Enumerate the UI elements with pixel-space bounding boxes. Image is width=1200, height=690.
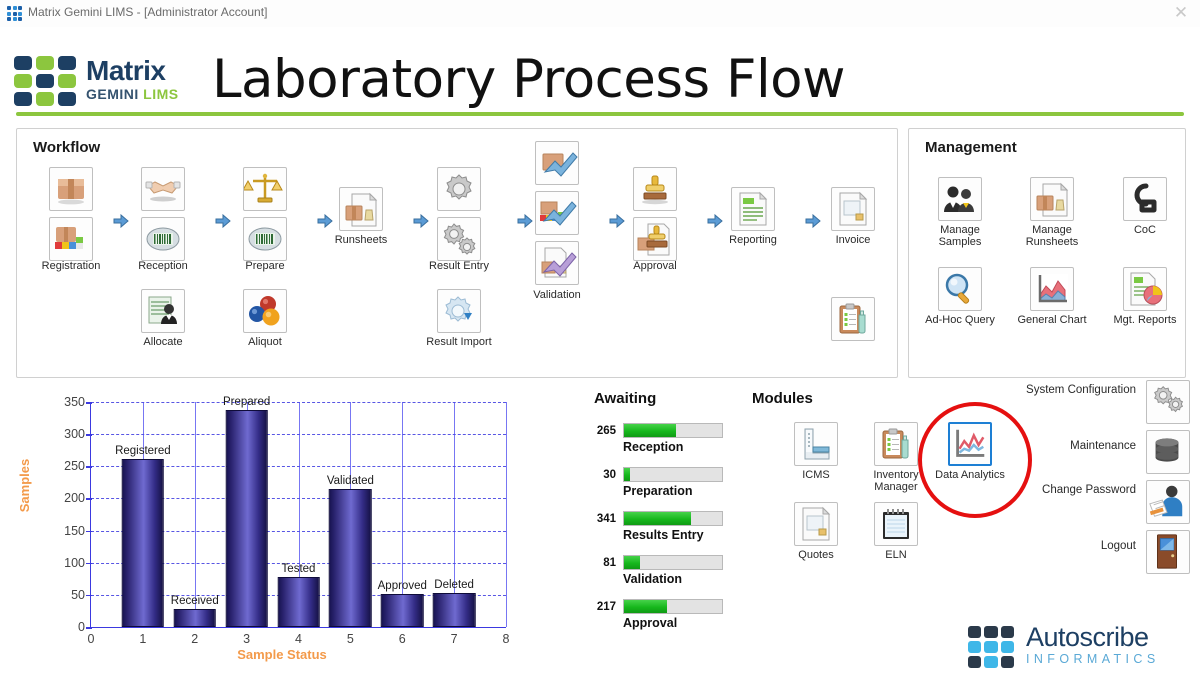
management-panel: Management Manage Samples Manage Runshee…	[908, 128, 1186, 378]
system-panel: System Configuration Maintenance Change …	[1030, 384, 1190, 584]
user-form-icon	[1146, 480, 1190, 524]
module-item-data-analytics[interactable]: Data Analytics	[948, 422, 992, 466]
module-item-icms[interactable]: ICMS	[794, 422, 838, 466]
arrow-right-icon	[317, 214, 333, 228]
chart-y-tickmark	[86, 563, 92, 565]
chart-gridline-v	[195, 402, 196, 627]
arrow-right-icon	[805, 214, 821, 228]
awaiting-label-preparation: Preparation	[623, 484, 692, 498]
awaiting-progress-fill	[624, 556, 640, 569]
workflow-label-result-import: Result Import	[420, 336, 498, 348]
chart-bar-label: Tested	[282, 563, 316, 575]
awaiting-label-approval: Approval	[623, 616, 677, 630]
chart-y-tickmark	[86, 531, 92, 533]
management-item-manage-runsheets[interactable]: Manage Runsheets	[1030, 177, 1074, 221]
workflow-item-reception[interactable]: Reception	[141, 167, 185, 261]
chart-y-tick-label: 300	[64, 427, 85, 441]
area-chart-icon	[1030, 267, 1074, 311]
management-label-manage-samples: Manage Samples	[921, 224, 999, 248]
handshake-icon	[141, 167, 185, 211]
clipboard-bottle-icon	[831, 297, 875, 341]
awaiting-progress-fill	[624, 424, 676, 437]
workflow-item-registration[interactable]: Registration	[49, 167, 93, 261]
management-item-general-chart[interactable]: General Chart	[1030, 267, 1074, 311]
modules-panel: Modules ICMS Inventory Manager Data Anal…	[752, 390, 1022, 570]
chart-y-tickmark	[86, 627, 92, 629]
report-pie-icon	[1123, 267, 1167, 311]
chart-x-tick-label: 3	[243, 632, 250, 646]
management-item-mgt-reports[interactable]: Mgt. Reports	[1123, 267, 1167, 311]
workflow-item-extra-clipboard[interactable]	[831, 297, 875, 341]
arrow-right-icon	[215, 214, 231, 228]
workflow-item-aliquot[interactable]: Aliquot	[243, 289, 287, 333]
chart-y-tickmark	[86, 402, 92, 404]
header-divider	[16, 112, 1184, 116]
chart-y-tick-label: 100	[64, 556, 85, 570]
allocate-person-grid-icon	[141, 289, 185, 333]
chart-bar[interactable]	[225, 410, 268, 627]
check-box-icon	[535, 141, 579, 185]
stamp-icon	[633, 167, 677, 211]
brand-sub-lims: LIMS	[143, 86, 178, 102]
chart-y-tickmark	[86, 498, 92, 500]
arrow-right-icon	[707, 214, 723, 228]
window-title-bar: Matrix Gemini LIMS - [Administrator Acco…	[0, 0, 1200, 27]
report-document-icon	[731, 187, 775, 231]
system-label-change-password: Change Password	[1026, 484, 1136, 497]
workflow-label-registration: Registration	[42, 260, 101, 272]
chart-x-tick-label: 1	[139, 632, 146, 646]
workflow-item-prepare[interactable]: Prepare	[243, 167, 287, 261]
page-header: Matrix GEMINI LIMS Laboratory Process Fl…	[0, 27, 1200, 113]
workflow-item-runsheets[interactable]: Runsheets	[339, 187, 383, 231]
spheres-icon	[243, 289, 287, 333]
chart-bar-label: Prepared	[223, 396, 270, 408]
modules-title: Modules	[752, 390, 813, 407]
arrow-right-icon	[609, 214, 625, 228]
page-title: Laboratory Process Flow	[212, 49, 845, 110]
workflow-label-allocate: Allocate	[143, 336, 182, 348]
system-label-maintenance: Maintenance	[1026, 440, 1136, 453]
arrow-right-icon	[113, 214, 129, 228]
chain-link-icon	[1123, 177, 1167, 221]
awaiting-progress-approval	[623, 599, 723, 614]
awaiting-row[interactable]: 81Validation	[586, 555, 726, 599]
door-exit-icon	[1146, 530, 1190, 574]
awaiting-row[interactable]: 30Preparation	[586, 467, 726, 511]
autoscribe-logo: Autoscribe INFORMATICS	[968, 622, 1188, 676]
check-runsheet-icon	[535, 241, 579, 285]
chart-x-tick-label: 8	[503, 632, 510, 646]
awaiting-count-approval: 217	[586, 601, 616, 613]
chart-bar[interactable]	[277, 577, 320, 627]
workflow-label-validation: Validation	[533, 289, 581, 301]
gears-icon	[1146, 380, 1190, 424]
workflow-item-result-entry[interactable]: Result Entry	[437, 167, 481, 261]
workflow-item-invoice[interactable]: Invoice	[831, 187, 875, 231]
chart-y-tick-label: 350	[64, 395, 85, 409]
app-grid-icon	[7, 6, 22, 21]
awaiting-count-results-entry: 341	[586, 513, 616, 525]
module-label-quotes: Quotes	[798, 549, 833, 561]
chart-x-tick-label: 4	[295, 632, 302, 646]
sample-status-chart: Samples Sample Status 050100150200250300…	[22, 392, 542, 677]
registration-colored-box-icon	[49, 217, 93, 261]
chart-plot-area: 050100150200250300350012345678Registered…	[90, 402, 506, 628]
awaiting-row[interactable]: 265Reception	[586, 423, 726, 467]
management-label-manage-runsheets: Manage Runsheets	[1013, 224, 1091, 248]
awaiting-label-reception: Reception	[623, 440, 683, 454]
awaiting-count-preparation: 30	[586, 469, 616, 481]
gear-download-icon	[437, 289, 481, 333]
awaiting-panel: Awaiting 265Reception30Preparation341Res…	[586, 390, 726, 650]
awaiting-count-reception: 265	[586, 425, 616, 437]
awaiting-label-validation: Validation	[623, 572, 682, 586]
chart-y-tick-label: 50	[71, 588, 85, 602]
runsheet-box-icon	[339, 187, 383, 231]
chart-x-tick-label: 5	[347, 632, 354, 646]
line-chart-icon	[948, 422, 992, 466]
chart-y-tick-label: 150	[64, 524, 85, 538]
workflow-label-result-entry: Result Entry	[420, 260, 498, 272]
management-title: Management	[925, 139, 1017, 156]
chart-y-tickmark	[86, 434, 92, 436]
awaiting-progress-results-entry	[623, 511, 723, 526]
chart-x-tick-label: 6	[399, 632, 406, 646]
chart-x-tick-label: 2	[191, 632, 198, 646]
autoscribe-grid-icon	[968, 626, 1014, 668]
chart-bar-label: Registered	[115, 445, 171, 457]
parcel-box-icon	[49, 167, 93, 211]
quote-document-icon	[794, 502, 838, 546]
system-label-logout: Logout	[1026, 540, 1136, 553]
stamp-document-icon	[633, 217, 677, 261]
close-icon[interactable]: ✕	[1168, 2, 1194, 24]
chart-y-tickmark	[86, 595, 92, 597]
chart-x-axis-label: Sample Status	[22, 647, 542, 662]
chart-gridline-v	[506, 402, 507, 627]
notebook-icon	[874, 502, 918, 546]
module-label-eln: ELN	[885, 549, 906, 561]
barcode-oval-icon	[243, 217, 287, 261]
chart-bar[interactable]	[381, 594, 424, 627]
arrow-right-icon	[517, 214, 533, 228]
workflow-label-runsheets: Runsheets	[335, 234, 388, 246]
chart-y-tickmark	[86, 466, 92, 468]
matrix-gemini-logo-icon	[14, 56, 76, 106]
invoice-document-icon	[831, 187, 875, 231]
chart-x-tick-label: 7	[451, 632, 458, 646]
check-colored-box-icon	[535, 191, 579, 235]
workflow-label-reporting: Reporting	[729, 234, 777, 246]
workflow-title: Workflow	[33, 139, 100, 156]
workflow-label-reception: Reception	[138, 260, 188, 272]
chart-bar[interactable]	[173, 609, 216, 627]
workflow-label-invoice: Invoice	[836, 234, 871, 246]
awaiting-progress-preparation	[623, 467, 723, 482]
workflow-item-validation[interactable]: Validation	[535, 141, 579, 285]
awaiting-label-results-entry: Results Entry	[623, 528, 704, 542]
module-label-icms: ICMS	[802, 469, 830, 481]
workflow-item-allocate[interactable]: Allocate	[141, 289, 185, 333]
chart-bar[interactable]	[433, 593, 476, 627]
module-label-data-analytics: Data Analytics	[931, 469, 1009, 481]
brand-name: Matrix	[86, 56, 179, 86]
clipboard-bottle-icon	[874, 422, 918, 466]
arrow-right-icon	[413, 214, 429, 228]
workflow-label-approval: Approval	[633, 260, 676, 272]
workflow-item-reporting[interactable]: Reporting	[731, 187, 775, 231]
awaiting-progress-fill	[624, 468, 630, 481]
awaiting-progress-fill	[624, 512, 691, 525]
chart-y-axis-label: Samples	[17, 459, 32, 512]
chart-bar-label: Deleted	[434, 579, 474, 591]
gear-icon	[437, 167, 481, 211]
system-label-system-configuration: System Configuration	[1026, 384, 1136, 397]
chart-x-tick-label: 0	[88, 632, 95, 646]
chart-y-tick-label: 200	[64, 491, 85, 505]
two-people-icon	[938, 177, 982, 221]
management-label-ad-hoc-query: Ad-Hoc Query	[925, 314, 995, 326]
chart-bar[interactable]	[122, 459, 165, 627]
workflow-panel: Workflow Registration Reception Allocate	[16, 128, 898, 378]
chart-y-tick-label: 250	[64, 459, 85, 473]
workflow-item-result-import[interactable]: Result Import	[437, 289, 481, 333]
workflow-item-approval[interactable]: Approval	[633, 167, 677, 261]
gears-icon	[437, 217, 481, 261]
awaiting-row[interactable]: 341Results Entry	[586, 511, 726, 555]
module-item-eln[interactable]: ELN	[874, 502, 918, 546]
module-item-quotes[interactable]: Quotes	[794, 502, 838, 546]
management-label-general-chart: General Chart	[1017, 314, 1086, 326]
icms-icon	[794, 422, 838, 466]
module-label-inventory-manager: Inventory Manager	[857, 469, 935, 493]
chart-y-tick-label: 0	[78, 620, 85, 634]
management-item-coc[interactable]: CoC	[1123, 177, 1167, 221]
chart-bar-label: Approved	[378, 580, 427, 592]
chart-bar-label: Received	[171, 595, 219, 607]
matrix-gemini-wordmark: Matrix GEMINI LIMS	[86, 56, 179, 102]
awaiting-title: Awaiting	[594, 390, 656, 407]
autoscribe-sub: INFORMATICS	[1026, 652, 1160, 666]
chart-bar-label: Validated	[327, 475, 374, 487]
awaiting-row[interactable]: 217Approval	[586, 599, 726, 643]
workflow-label-aliquot: Aliquot	[248, 336, 282, 348]
magnifier-icon	[938, 267, 982, 311]
awaiting-progress-fill	[624, 600, 667, 613]
autoscribe-brand: Autoscribe	[1026, 622, 1160, 652]
runsheet-box-icon	[1030, 177, 1074, 221]
chart-bar[interactable]	[329, 489, 372, 627]
management-item-ad-hoc-query[interactable]: Ad-Hoc Query	[938, 267, 982, 311]
management-label-coc: CoC	[1134, 224, 1156, 236]
module-item-inventory-manager[interactable]: Inventory Manager	[874, 422, 918, 466]
balance-scale-icon	[243, 167, 287, 211]
management-label-mgt-reports: Mgt. Reports	[1114, 314, 1177, 326]
awaiting-count-validation: 81	[586, 557, 616, 569]
awaiting-progress-reception	[623, 423, 723, 438]
awaiting-progress-validation	[623, 555, 723, 570]
management-item-manage-samples[interactable]: Manage Samples	[938, 177, 982, 221]
window-title: Matrix Gemini LIMS - [Administrator Acco…	[28, 5, 267, 19]
database-icon	[1146, 430, 1190, 474]
barcode-oval-icon	[141, 217, 185, 261]
brand-sub-gemini: GEMINI	[86, 86, 143, 102]
workflow-label-prepare: Prepare	[245, 260, 284, 272]
